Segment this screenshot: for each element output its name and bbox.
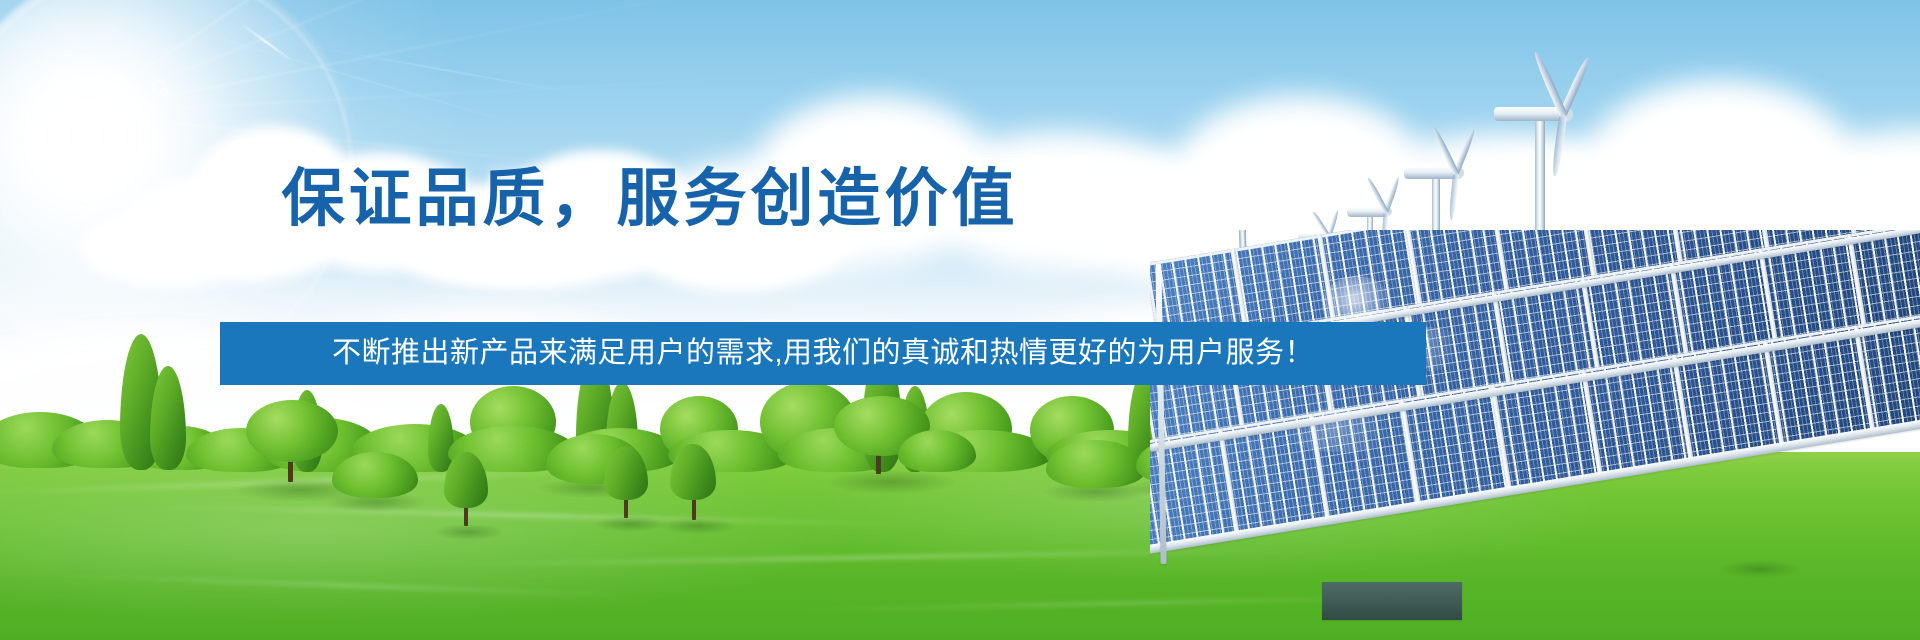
promo-banner: 保证品质，服务创造价值 不断推出新产品来满足用户的需求,用我们的真诚和热情更好的… — [0, 0, 1920, 640]
lens-flare-dot — [160, 88, 168, 96]
subtitle-text: 不断推出新产品来满足用户的需求,用我们的真诚和热情更好的为用户服务！ — [332, 339, 1314, 368]
page-title: 保证品质，服务创造价值 — [0, 168, 1300, 231]
solar-panel-array — [1150, 230, 1920, 640]
subtitle-bar: 不断推出新产品来满足用户的需求,用我们的真诚和热情更好的为用户服务！ — [220, 322, 1426, 385]
deciduous-tree — [246, 400, 338, 462]
array-base-frame — [1322, 582, 1462, 620]
